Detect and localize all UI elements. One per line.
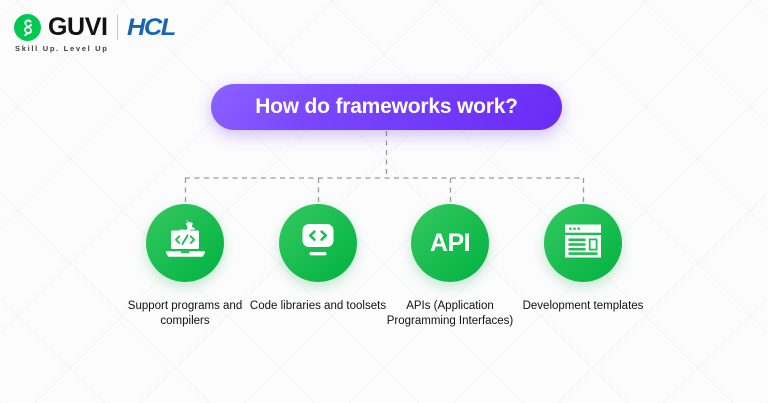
guvi-logo: GUVI bbox=[14, 14, 108, 41]
infographic-canvas: GUVI HCL Skill Up. Level Up How do frame… bbox=[0, 0, 768, 403]
node-development-templates[interactable]: Development templates bbox=[508, 204, 658, 314]
node-circle bbox=[146, 204, 224, 282]
node-code-libraries[interactable]: Code libraries and toolsets bbox=[243, 204, 393, 314]
node-label: APIs (Application Programming Interfaces… bbox=[377, 299, 523, 329]
node-circle bbox=[279, 204, 357, 282]
guvi-g-glyph-icon bbox=[14, 14, 41, 41]
laptop-code-gear-icon bbox=[163, 220, 207, 267]
connector-lines bbox=[0, 0, 768, 403]
node-apis[interactable]: API APIs (Application Programming Interf… bbox=[375, 204, 525, 329]
node-label: Code libraries and toolsets bbox=[245, 299, 391, 314]
node-label: Support programs and compilers bbox=[112, 299, 258, 329]
page-title: How do frameworks work? bbox=[255, 95, 518, 119]
brand-bar: GUVI HCL Skill Up. Level Up bbox=[14, 14, 172, 53]
api-text-icon: API bbox=[430, 229, 470, 258]
brand-tagline: Skill Up. Level Up bbox=[15, 44, 172, 53]
node-label: Development templates bbox=[510, 299, 656, 314]
node-circle: API bbox=[411, 204, 489, 282]
title-banner: How do frameworks work? bbox=[211, 84, 562, 130]
browser-wireframe-template-icon bbox=[562, 222, 604, 265]
brand-logo-row: GUVI HCL bbox=[14, 14, 172, 41]
node-circle bbox=[544, 204, 622, 282]
brand-divider bbox=[117, 15, 118, 40]
guvi-wordmark: GUVI bbox=[48, 15, 108, 40]
hcl-wordmark: HCL bbox=[127, 16, 175, 40]
code-brackets-screen-icon bbox=[297, 221, 339, 266]
node-support-programs[interactable]: Support programs and compilers bbox=[110, 204, 260, 329]
